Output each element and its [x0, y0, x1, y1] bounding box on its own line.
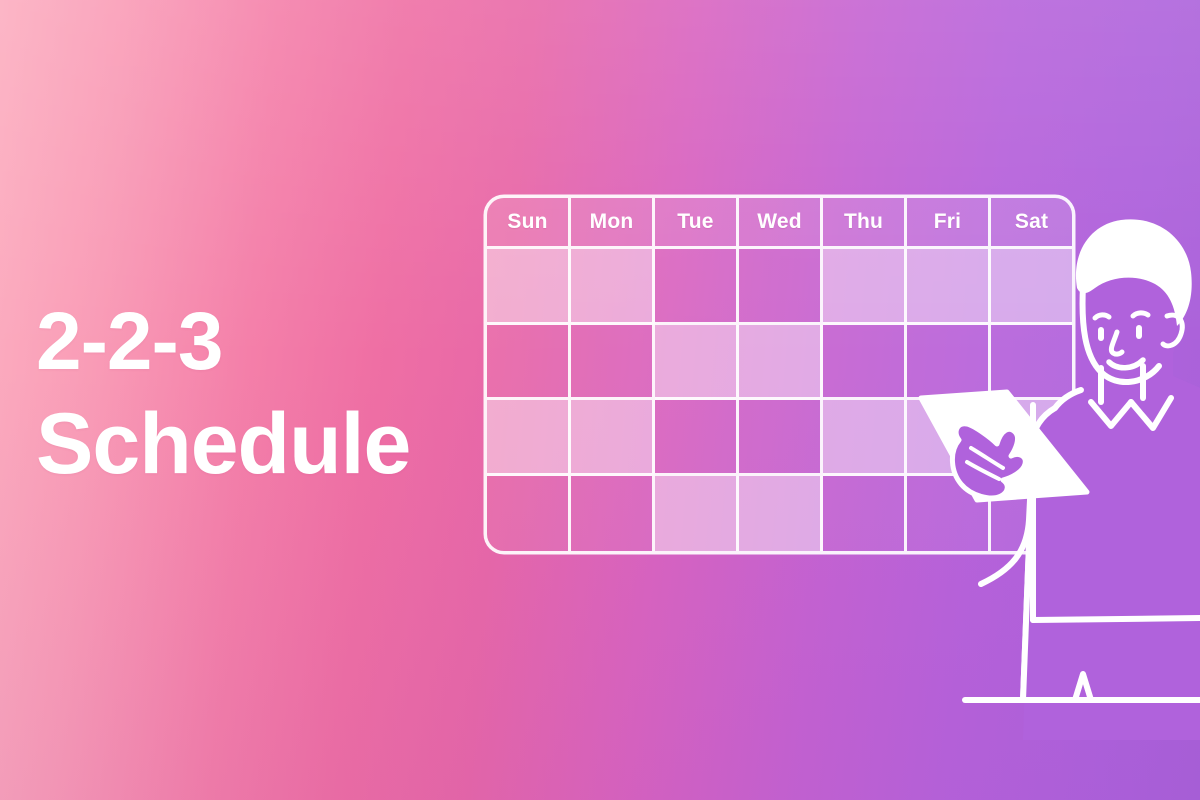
title-line-1: 2-2-3: [36, 296, 496, 388]
calendar-cell-wed-w1: [739, 249, 823, 325]
calendar-cell-mon-w1: [571, 249, 655, 325]
calendar-cell-fri-w4: [907, 476, 991, 552]
weekday-header-sat: Sat: [991, 198, 1072, 249]
page-title: 2-2-3 Schedule: [36, 296, 496, 492]
weekday-header-tue: Tue: [655, 198, 739, 249]
schedule-calendar: Sun Mon Tue Wed Thu Fri Sat: [487, 198, 1072, 551]
weekday-label: Tue: [677, 210, 713, 234]
calendar-cell-sun-w1: [487, 249, 571, 325]
calendar-cell-sat-w3: [991, 400, 1072, 476]
calendar-cell-thu-w2: [823, 325, 907, 401]
poster-canvas: 2-2-3 Schedule Sun Mon Tue Wed Thu Fri S…: [0, 0, 1200, 800]
weekday-header-sun: Sun: [487, 198, 571, 249]
calendar-cell-mon-w2: [571, 325, 655, 401]
calendar-header-row: Sun Mon Tue Wed Thu Fri Sat: [487, 198, 1072, 249]
weekday-header-mon: Mon: [571, 198, 655, 249]
calendar-week-row: [487, 476, 1072, 552]
calendar-cell-sat-w1: [991, 249, 1072, 325]
weekday-header-thu: Thu: [823, 198, 907, 249]
weekday-header-wed: Wed: [739, 198, 823, 249]
weekday-label: Mon: [590, 210, 634, 234]
title-line-2: Schedule: [36, 396, 496, 492]
calendar-week-row: [487, 400, 1072, 476]
calendar-cell-thu-w1: [823, 249, 907, 325]
calendar-cell-sat-w2: [991, 325, 1072, 401]
calendar-cell-tue-w4: [655, 476, 739, 552]
weekday-label: Thu: [844, 210, 883, 234]
calendar-cell-sun-w2: [487, 325, 571, 401]
calendar-cell-thu-w4: [823, 476, 907, 552]
calendar-cell-sun-w4: [487, 476, 571, 552]
calendar-cell-sat-w4: [991, 476, 1072, 552]
calendar-cell-mon-w4: [571, 476, 655, 552]
weekday-label: Fri: [934, 210, 961, 234]
weekday-header-fri: Fri: [907, 198, 991, 249]
weekday-label: Wed: [757, 210, 802, 234]
calendar-cell-wed-w3: [739, 400, 823, 476]
calendar-cell-sun-w3: [487, 400, 571, 476]
calendar-cell-fri-w3: [907, 400, 991, 476]
calendar-week-row: [487, 325, 1072, 401]
calendar-cell-wed-w4: [739, 476, 823, 552]
weekday-label: Sat: [1015, 210, 1048, 234]
calendar-cell-fri-w1: [907, 249, 991, 325]
calendar-cell-tue-w1: [655, 249, 739, 325]
calendar-cell-tue-w2: [655, 325, 739, 401]
calendar-cell-wed-w2: [739, 325, 823, 401]
calendar-cell-tue-w3: [655, 400, 739, 476]
calendar-cell-fri-w2: [907, 325, 991, 401]
calendar-cell-mon-w3: [571, 400, 655, 476]
calendar-week-row: [487, 249, 1072, 325]
calendar-cell-thu-w3: [823, 400, 907, 476]
weekday-label: Sun: [507, 210, 547, 234]
